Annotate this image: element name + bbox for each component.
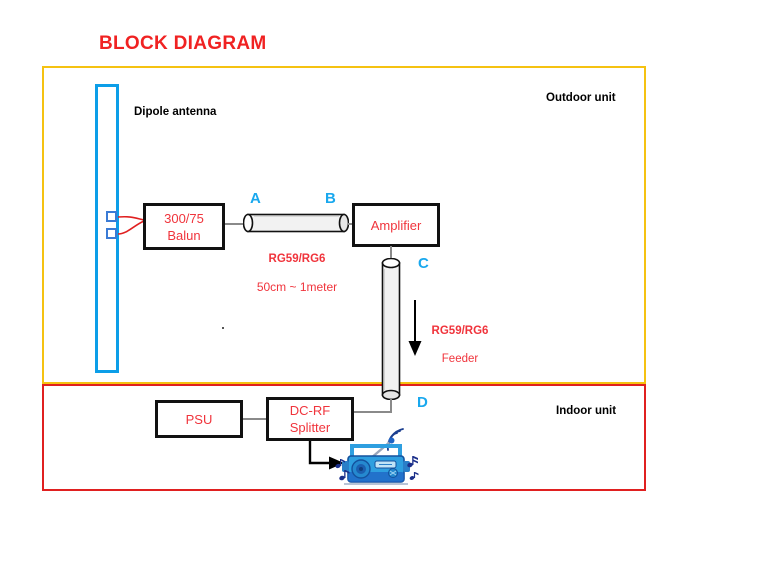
dipole-antenna-label: Dipole antenna <box>134 106 216 118</box>
test-point-b: B <box>325 190 336 207</box>
psu-label: PSU <box>186 411 213 428</box>
amplifier-label: Amplifier <box>371 217 422 234</box>
radio-receiver-icon <box>334 428 420 490</box>
wire-feeder-to-splitter <box>354 411 392 413</box>
balun-label: 300/75 Balun <box>164 210 204 244</box>
test-point-c: C <box>418 255 429 272</box>
page-title: BLOCK DIAGRAM <box>99 33 267 55</box>
coax-feeder-caption: RG59/RG6 Feeder <box>420 310 500 380</box>
amplifier-block: Amplifier <box>352 203 440 247</box>
stray-dot-artifact <box>222 327 224 329</box>
test-point-a: A <box>250 190 261 207</box>
balun-block: 300/75 Balun <box>143 203 225 250</box>
test-point-d: D <box>417 394 428 411</box>
coax-jumper-caption: RG59/RG6 50cm ~ 1meter <box>241 238 353 308</box>
splitter-label: DC-RF Splitter <box>290 402 330 436</box>
coax-jumper-length: 50cm ~ 1meter <box>241 280 353 294</box>
psu-block: PSU <box>155 400 243 438</box>
coax-feeder-type: RG59/RG6 <box>420 324 500 338</box>
outdoor-unit-label: Outdoor unit <box>546 92 616 104</box>
coax-jumper-cable <box>243 213 349 233</box>
indoor-unit-label: Indoor unit <box>556 405 616 417</box>
coax-feeder-cable <box>381 258 401 400</box>
coax-jumper-type: RG59/RG6 <box>241 252 353 266</box>
block-diagram-canvas: BLOCK DIAGRAM Outdoor unit Indoor unit D… <box>0 0 773 572</box>
wire-balun-to-coax <box>225 223 244 225</box>
coax-feeder-role: Feeder <box>420 352 500 366</box>
wire-psu-to-splitter <box>243 418 267 420</box>
